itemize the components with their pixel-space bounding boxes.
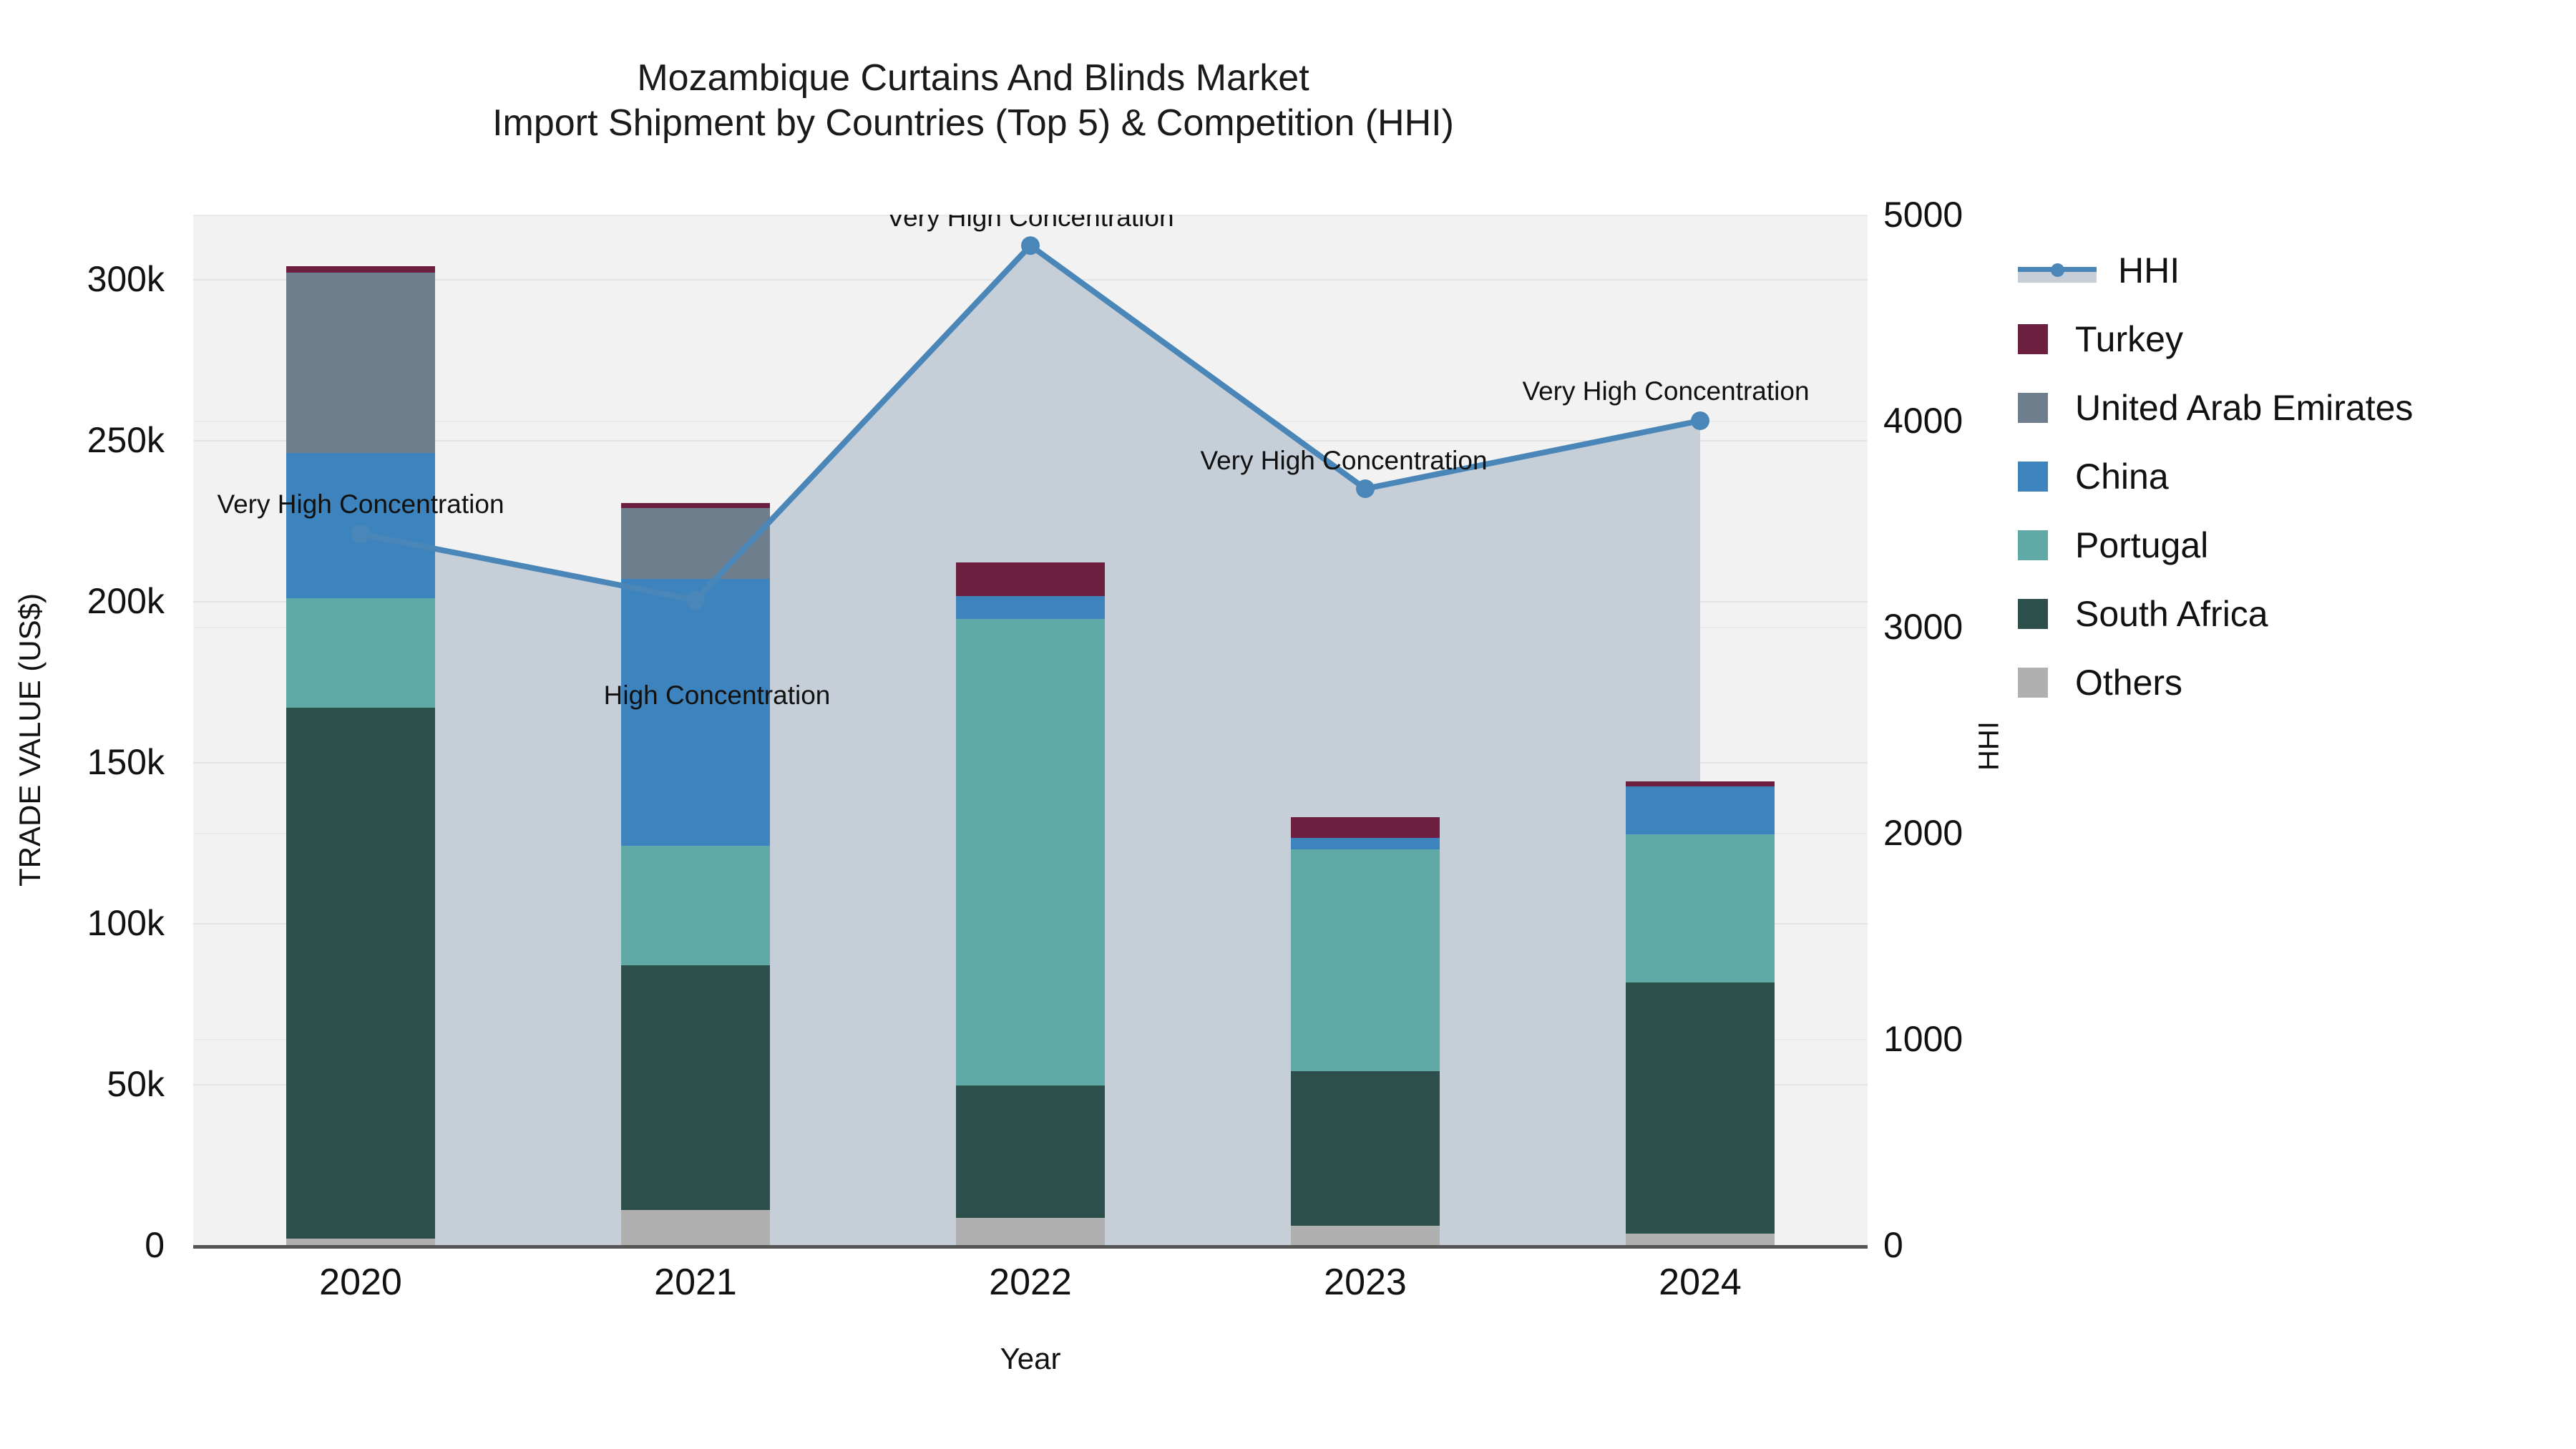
x-axis-line bbox=[193, 1245, 1868, 1249]
legend-item-others[interactable]: Others bbox=[2018, 648, 2413, 717]
x-axis-tick-2020: 2020 bbox=[319, 1261, 402, 1304]
y-axis-left-tick: 250k bbox=[87, 419, 165, 461]
y-axis-right-title: HHI bbox=[1974, 639, 2006, 854]
legend-item-hhi[interactable]: HHI bbox=[2018, 236, 2413, 305]
y-axis-right-tick: 3000 bbox=[1883, 606, 1963, 648]
annotation-2021: High Concentration bbox=[604, 680, 831, 711]
y-axis-right-tick: 1000 bbox=[1883, 1018, 1963, 1060]
annotations-layer: Very High ConcentrationHigh Concentratio… bbox=[193, 215, 1868, 1245]
annotation-2023: Very High Concentration bbox=[1200, 446, 1487, 476]
color-swatch-icon bbox=[2018, 599, 2048, 629]
color-swatch-icon bbox=[2018, 324, 2048, 354]
y-axis-right-tick: 2000 bbox=[1883, 812, 1963, 854]
y-axis-left-tick: 0 bbox=[145, 1224, 165, 1266]
y-axis-left-title: TRADE VALUE (US$) bbox=[13, 482, 47, 997]
legend-label: Turkey bbox=[2075, 318, 2183, 360]
legend-item-turkey[interactable]: Turkey bbox=[2018, 305, 2413, 374]
chart-title-line-2: Import Shipment by Countries (Top 5) & C… bbox=[0, 101, 1946, 146]
legend-label: Portugal bbox=[2075, 525, 2208, 566]
y-axis-left-tick: 150k bbox=[87, 741, 165, 783]
plot-area: Very High ConcentrationHigh Concentratio… bbox=[193, 215, 1868, 1245]
annotation-2024: Very High Concentration bbox=[1522, 376, 1809, 406]
y-axis-left-tick: 200k bbox=[87, 580, 165, 622]
legend-label: South Africa bbox=[2075, 593, 2268, 635]
x-axis-tick-2024: 2024 bbox=[1659, 1261, 1742, 1304]
y-axis-right-tick: 5000 bbox=[1883, 194, 1963, 235]
color-swatch-icon bbox=[2018, 530, 2048, 560]
x-axis-title: Year bbox=[0, 1342, 2061, 1376]
chart-title-line-1: Mozambique Curtains And Blinds Market bbox=[0, 56, 1946, 101]
x-axis-tick-2022: 2022 bbox=[989, 1261, 1072, 1304]
y-axis-right-tick: 0 bbox=[1883, 1224, 1903, 1266]
legend-label: Others bbox=[2075, 662, 2182, 703]
x-axis-tick-2023: 2023 bbox=[1324, 1261, 1407, 1304]
legend-item-china[interactable]: China bbox=[2018, 442, 2413, 511]
y-axis-left-tick: 50k bbox=[107, 1063, 165, 1105]
legend-item-portugal[interactable]: Portugal bbox=[2018, 511, 2413, 580]
chart-title: Mozambique Curtains And Blinds Market Im… bbox=[0, 56, 1946, 147]
chart-figure: Mozambique Curtains And Blinds Market Im… bbox=[0, 0, 2576, 1449]
annotation-2022: Very High Concentration bbox=[887, 215, 1174, 233]
legend-label: HHI bbox=[2118, 250, 2180, 291]
legend-item-united-arab-emirates[interactable]: United Arab Emirates bbox=[2018, 374, 2413, 442]
color-swatch-icon bbox=[2018, 668, 2048, 698]
legend-item-south-africa[interactable]: South Africa bbox=[2018, 580, 2413, 648]
y-axis-right-tick: 4000 bbox=[1883, 400, 1963, 441]
color-swatch-icon bbox=[2018, 462, 2048, 492]
chart-legend: HHITurkeyUnited Arab EmiratesChinaPortug… bbox=[2018, 236, 2413, 717]
line-marker-icon bbox=[2018, 255, 2097, 286]
y-axis-left-tick: 300k bbox=[87, 258, 165, 300]
legend-label: China bbox=[2075, 456, 2169, 497]
x-axis-ticks: 20202021202220232024 bbox=[193, 1261, 1868, 1318]
y-axis-left-tick: 100k bbox=[87, 902, 165, 944]
legend-label: United Arab Emirates bbox=[2075, 387, 2413, 429]
y-axis-right-ticks: 010002000300040005000 bbox=[1883, 0, 2055, 1449]
color-swatch-icon bbox=[2018, 393, 2048, 423]
x-axis-tick-2021: 2021 bbox=[654, 1261, 737, 1304]
annotation-2020: Very High Concentration bbox=[217, 489, 504, 519]
